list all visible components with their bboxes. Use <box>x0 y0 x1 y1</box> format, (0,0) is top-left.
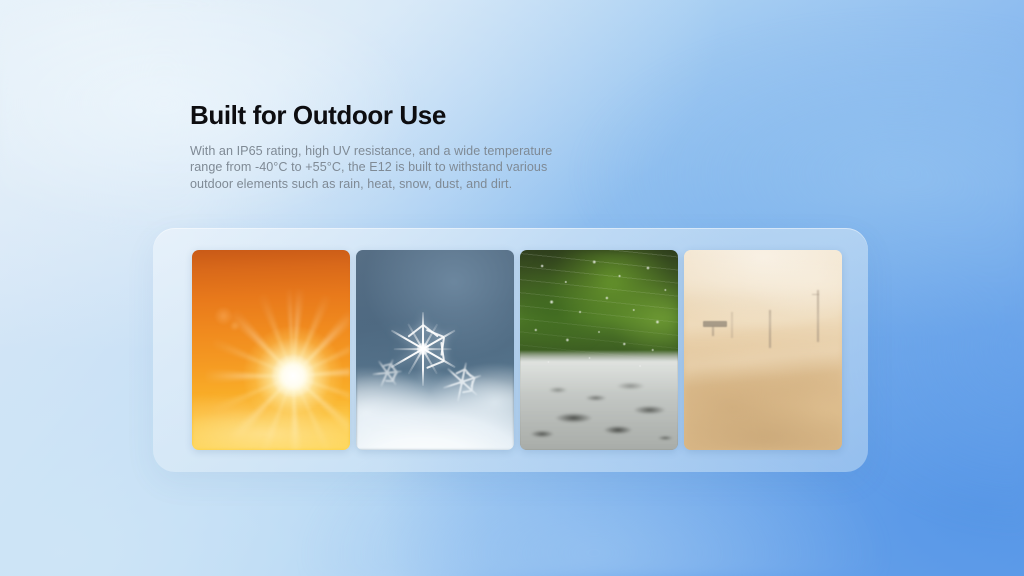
page-title: Built for Outdoor Use <box>190 100 590 131</box>
dust-veil-layer <box>684 250 842 450</box>
snow-bank-layer <box>356 250 514 450</box>
gallery-card-dust[interactable] <box>684 250 842 450</box>
heat-haze-layer <box>192 250 350 450</box>
weather-gallery-panel <box>153 228 868 472</box>
gallery-card-heat[interactable] <box>192 250 350 450</box>
outdoor-use-section: Built for Outdoor Use With an IP65 ratin… <box>0 0 1024 576</box>
section-description: With an IP65 rating, high UV resistance,… <box>190 143 558 193</box>
section-copy: Built for Outdoor Use With an IP65 ratin… <box>190 100 590 192</box>
gallery-card-snow[interactable] <box>356 250 514 450</box>
rain-icon <box>520 250 678 450</box>
gallery-card-rain[interactable] <box>520 250 678 450</box>
